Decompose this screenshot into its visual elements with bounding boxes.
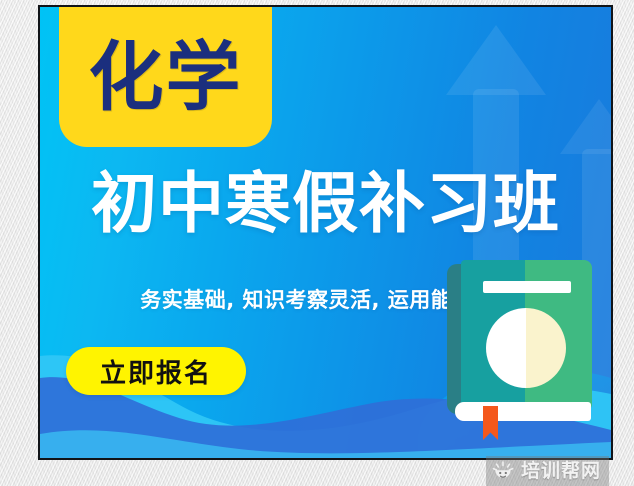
book-title-bar xyxy=(483,281,571,293)
watermark-label: 培训帮网 xyxy=(521,462,601,481)
arrow-head xyxy=(446,25,546,95)
book-icon xyxy=(447,260,599,430)
promo-banner: 化学 初中寒假补习班 务实基础, 知识考察灵活, 运用能力提升 立即报名 xyxy=(38,5,613,460)
book-cover xyxy=(461,260,592,412)
arrow-head xyxy=(560,99,611,154)
book-emblem-circle xyxy=(486,308,566,388)
banner-headline: 初中寒假补习班 xyxy=(40,170,611,237)
smiley-sun-icon xyxy=(492,461,514,481)
watermark: 培训帮网 xyxy=(486,456,609,486)
banner-background: 化学 初中寒假补习班 务实基础, 知识考察灵活, 运用能力提升 立即报名 xyxy=(40,7,611,458)
enroll-now-button[interactable]: 立即报名 xyxy=(66,347,246,395)
book-pages xyxy=(455,402,591,421)
subject-badge: 化学 xyxy=(59,7,272,147)
subject-badge-label: 化学 xyxy=(88,40,242,115)
